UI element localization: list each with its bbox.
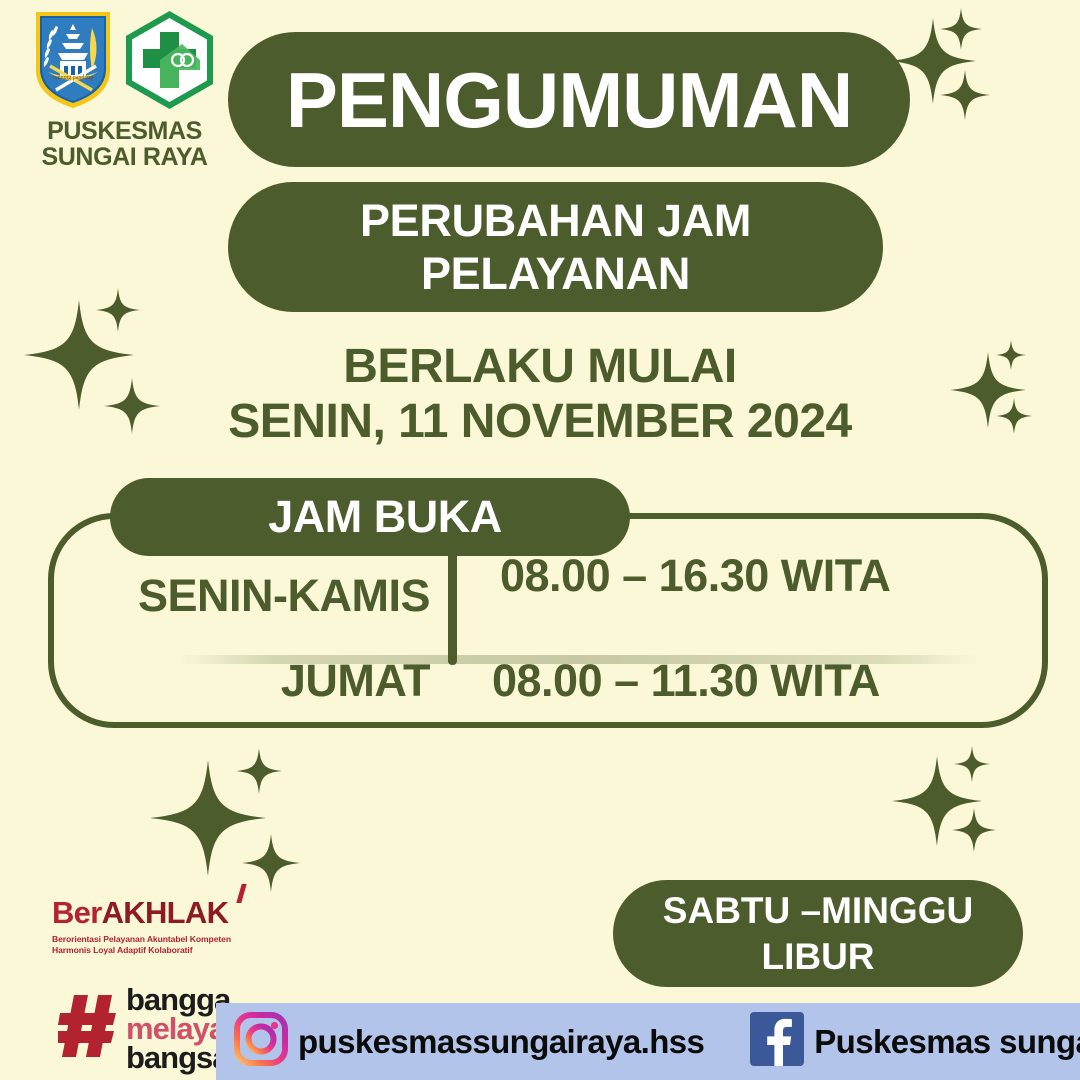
berakhlak-tagline: Berorientasi Pelayanan Akuntabel Kompete… [52, 934, 252, 957]
kabupaten-coat-of-arms-logo: tuntung pandang [30, 8, 116, 116]
announcement-title-pill: PENGUMUMAN [228, 32, 910, 167]
closed-days-badge: SABTU –MINGGU LIBUR [613, 880, 1023, 987]
sparkle-icon [242, 834, 300, 892]
instagram-icon [234, 1012, 288, 1071]
effective-date-line2: SENIN, 11 NOVEMBER 2024 [0, 395, 1080, 450]
announcement-subtitle: PERUBAHAN JAM PELAYANAN [360, 194, 751, 300]
sparkle-icon [236, 748, 282, 794]
berakhlak-wordmark: BerAKHLAK [52, 895, 228, 931]
sparkle-icon [892, 756, 982, 846]
facebook-account[interactable]: Puskesmas sungai Raya [750, 1012, 1080, 1071]
sparkle-icon [940, 70, 990, 120]
brand-name: PUSKESMAS SUNGAI RAYA [22, 118, 227, 170]
schedule-row-hours: 08.00 – 11.30 WITA [492, 655, 880, 707]
social-bar: puskesmassungairaya.hss Puskesmas sungai… [216, 1003, 1080, 1080]
instagram-account[interactable]: puskesmassungairaya.hss [234, 1012, 704, 1071]
schedule-row-days: SENIN-KAMIS [60, 570, 430, 622]
hashtag-icon [58, 991, 120, 1066]
sparkle-icon [150, 760, 266, 876]
schedule-row-days: JUMAT [60, 655, 430, 707]
closed-days-label: SABTU –MINGGU LIBUR [663, 888, 973, 978]
schedule-row-hours: 08.00 – 16.30 WITA [500, 550, 890, 602]
effective-date-block: BERLAKU MULAI SENIN, 11 NOVEMBER 2024 [0, 340, 1080, 449]
announcement-title: PENGUMUMAN [286, 61, 852, 139]
berakhlak-suffix: AKHLAK [102, 895, 229, 930]
schedule-heading-pill: JAM BUKA [110, 478, 630, 556]
announcement-subtitle-pill: PERUBAHAN JAM PELAYANAN [228, 182, 883, 312]
berakhlak-prefix: Ber [52, 895, 102, 930]
facebook-icon [750, 1012, 804, 1071]
sparkle-icon [96, 288, 140, 332]
sparkle-icon [954, 746, 990, 782]
puskesmas-hexagon-health-logo [120, 8, 219, 116]
brand-block: tuntung pandang PUSKESMAS SUNGAI RAYA [22, 8, 227, 170]
berakhlak-tick-icon [223, 884, 247, 903]
brand-logos: tuntung pandang [22, 8, 227, 116]
facebook-handle: Puskesmas sungai Raya [814, 1023, 1080, 1061]
schedule-heading: JAM BUKA [268, 491, 502, 543]
instagram-handle: puskesmassungairaya.hss [298, 1023, 704, 1061]
announcement-poster: tuntung pandang PUSKESMAS SUNGAI RAYA [0, 0, 1080, 1080]
berakhlak-logo: BerAKHLAK Berorientasi Pelayanan Akuntab… [52, 895, 252, 957]
svg-text:tuntung pandang: tuntung pandang [53, 75, 93, 81]
sparkle-icon [940, 8, 982, 50]
sparkle-icon [952, 808, 996, 852]
effective-date-line1: BERLAKU MULAI [0, 340, 1080, 395]
